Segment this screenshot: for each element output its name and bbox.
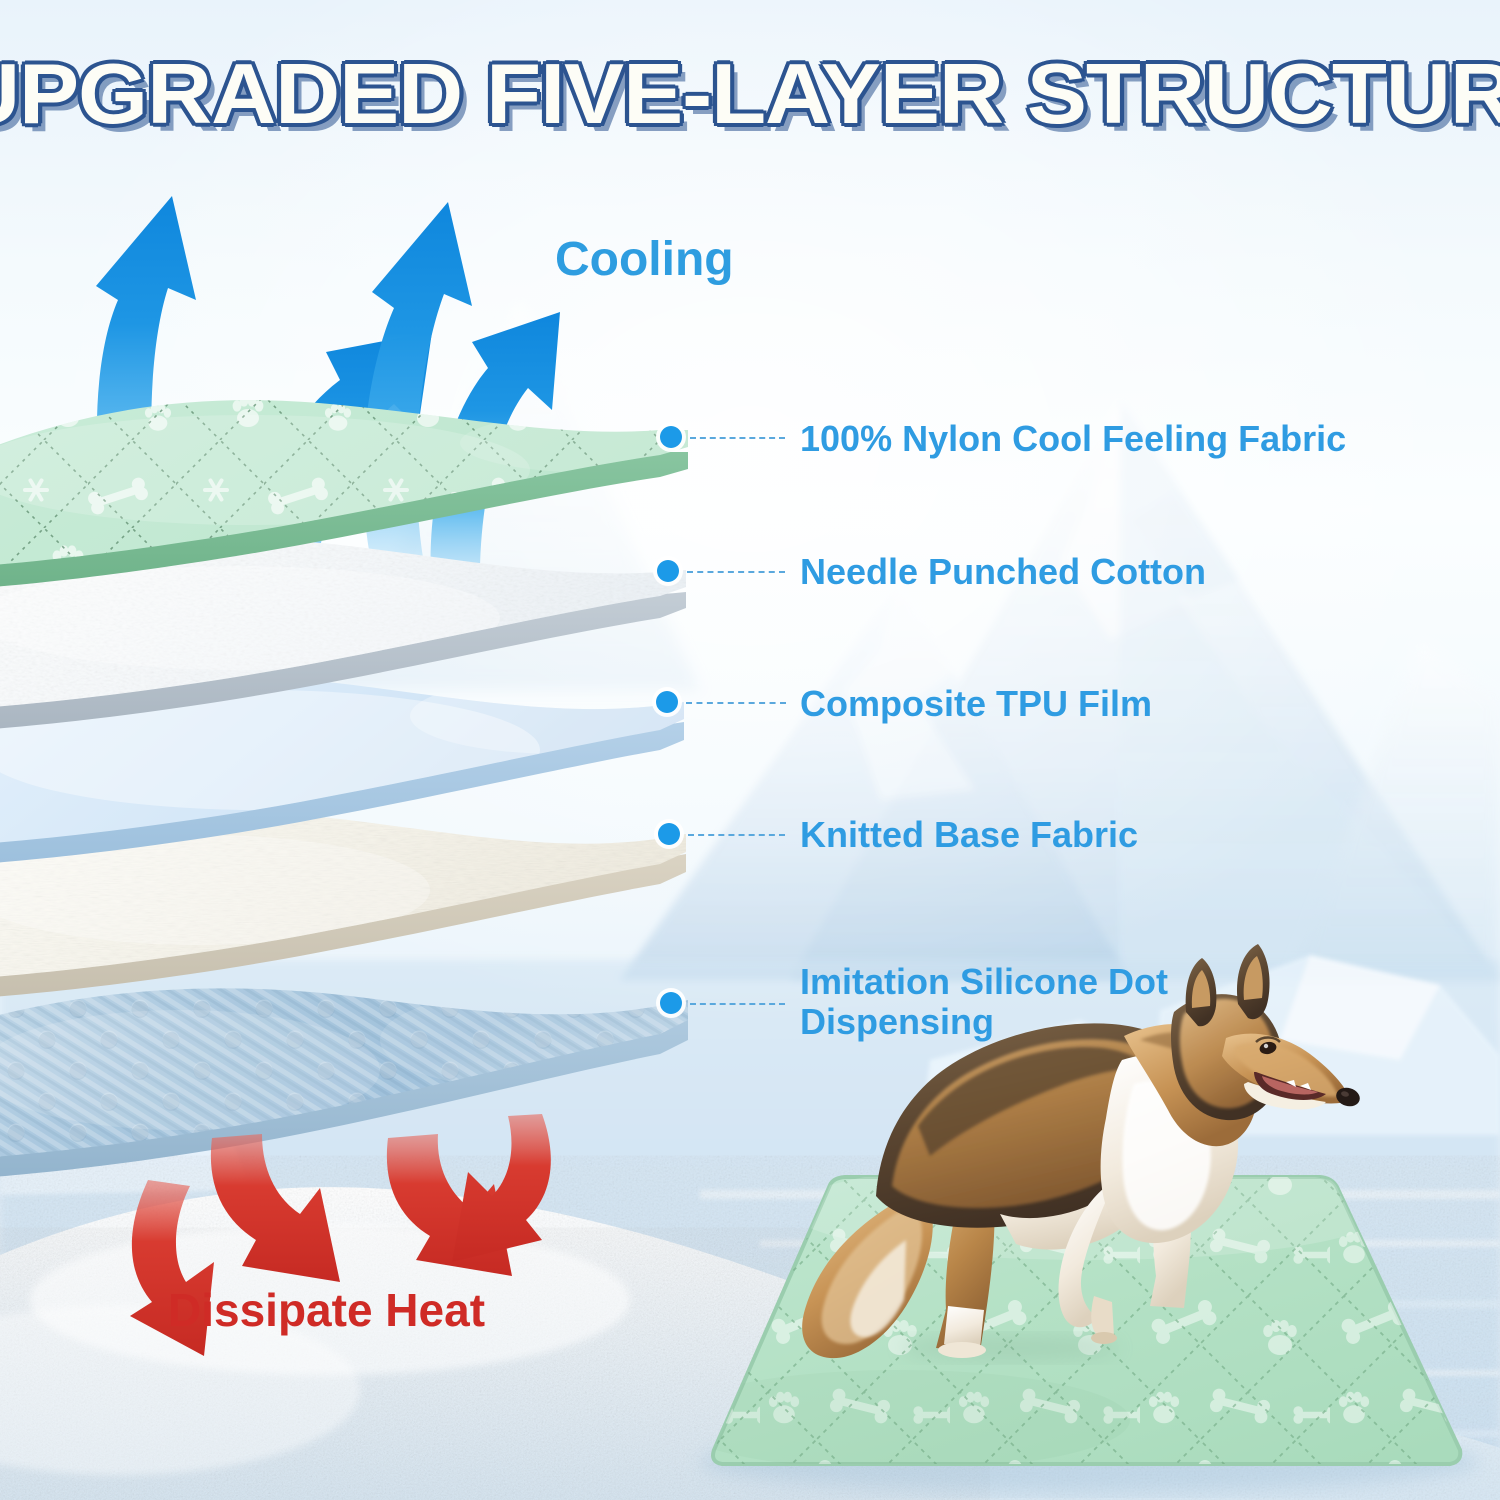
callout-dot-layer-5	[660, 992, 682, 1014]
cooling-label: Cooling	[555, 232, 734, 287]
callout-label-layer-1: 100% Nylon Cool Feeling Fabric	[800, 419, 1346, 459]
leader-line-layer-3	[686, 702, 786, 704]
leader-line-layer-1	[690, 437, 785, 439]
callout-dot-layer-4	[658, 823, 680, 845]
leader-line-layer-5	[690, 1003, 785, 1005]
callout-dot-layer-2	[657, 560, 679, 582]
callout-label-layer-3: Composite TPU Film	[800, 684, 1152, 724]
callout-dot-layer-3	[656, 691, 678, 713]
dog-on-mat-scene	[0, 0, 1500, 1500]
leader-line-layer-4	[688, 834, 785, 836]
leader-line-layer-2	[687, 571, 785, 573]
callout-label-layer-4: Knitted Base Fabric	[800, 815, 1138, 855]
infographic-canvas: UPGRADED FIVE-LAYER STRUCTURE	[0, 0, 1500, 1500]
callout-label-layer-5: Imitation Silicone Dot Dispensing	[800, 962, 1168, 1043]
callout-dot-layer-1	[660, 426, 682, 448]
callout-label-layer-2: Needle Punched Cotton	[800, 552, 1206, 592]
dissipate-heat-label: Dissipate Heat	[168, 1283, 485, 1337]
